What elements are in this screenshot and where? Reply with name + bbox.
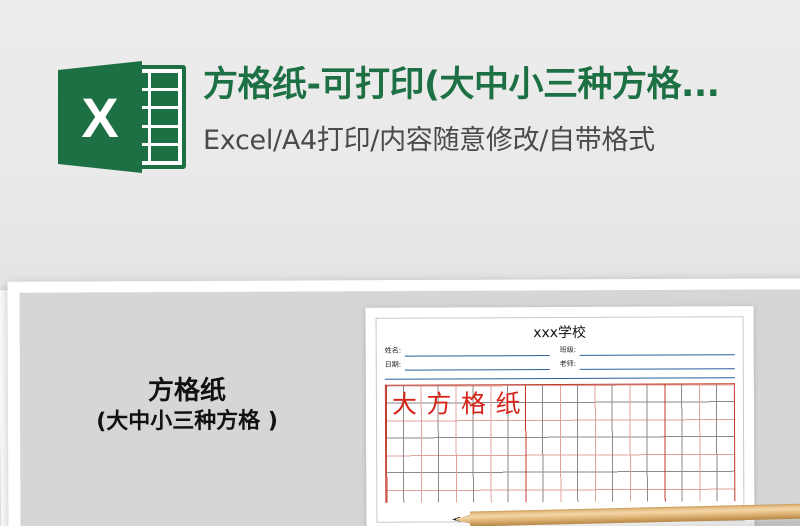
header-divider-rule bbox=[385, 377, 735, 380]
field-label: 日期: bbox=[385, 360, 405, 371]
field-teacher[interactable]: 老师: bbox=[560, 358, 735, 370]
field-date[interactable]: 日期: bbox=[385, 359, 560, 371]
worksheet-title: xxx学校 bbox=[385, 323, 735, 343]
header: X 方格纸-可打印(大中小三种方格... Excel/A4打印/内容随意修改/自… bbox=[0, 45, 800, 185]
worksheet-field-row: 姓名: 班级: bbox=[385, 344, 735, 357]
worksheet-frame: xxx学校 姓名: 班级: 日期: bbox=[376, 316, 745, 523]
sheet-cell bbox=[151, 73, 179, 88]
grid-sample-text: 大方格纸 bbox=[388, 387, 530, 421]
field-label: 姓名: bbox=[385, 346, 405, 357]
page-subtitle: Excel/A4打印/内容随意修改/自带格式 bbox=[203, 123, 800, 159]
caption-title: 方格纸 bbox=[42, 374, 332, 407]
preview-stack: 方格纸 (大中小三种方格 ) xxx学校 姓名: 班级: bbox=[0, 250, 800, 526]
field-class[interactable]: 班级: bbox=[560, 344, 735, 356]
field-label: 班级: bbox=[560, 345, 580, 356]
field-name[interactable]: 姓名: bbox=[385, 345, 560, 357]
caption-subtitle: (大中小三种方格 ) bbox=[42, 406, 332, 437]
grid-paper-area: 大方格纸 bbox=[385, 383, 736, 503]
preview-caption: 方格纸 (大中小三种方格 ) bbox=[42, 374, 332, 437]
field-input-line[interactable] bbox=[405, 355, 550, 357]
preview-page: X 方格纸-可打印(大中小三种方格... Excel/A4打印/内容随意修改/自… bbox=[0, 0, 800, 526]
worksheet-document[interactable]: xxx学校 姓名: 班级: 日期: bbox=[366, 306, 755, 526]
field-label: 老师: bbox=[560, 359, 580, 370]
page-title: 方格纸-可打印(大中小三种方格... bbox=[203, 63, 800, 107]
sheet-cell bbox=[151, 128, 179, 143]
excel-x-letter: X bbox=[58, 61, 142, 173]
field-input-line[interactable] bbox=[580, 354, 735, 356]
sheet-cell bbox=[151, 91, 179, 106]
field-input-line[interactable] bbox=[580, 368, 735, 370]
sheet-cell bbox=[151, 109, 179, 124]
sheet-cell bbox=[151, 146, 179, 161]
field-input-line[interactable] bbox=[405, 369, 550, 371]
excel-file-icon: X bbox=[58, 61, 186, 173]
worksheet-field-row: 日期: 老师: bbox=[385, 358, 735, 371]
